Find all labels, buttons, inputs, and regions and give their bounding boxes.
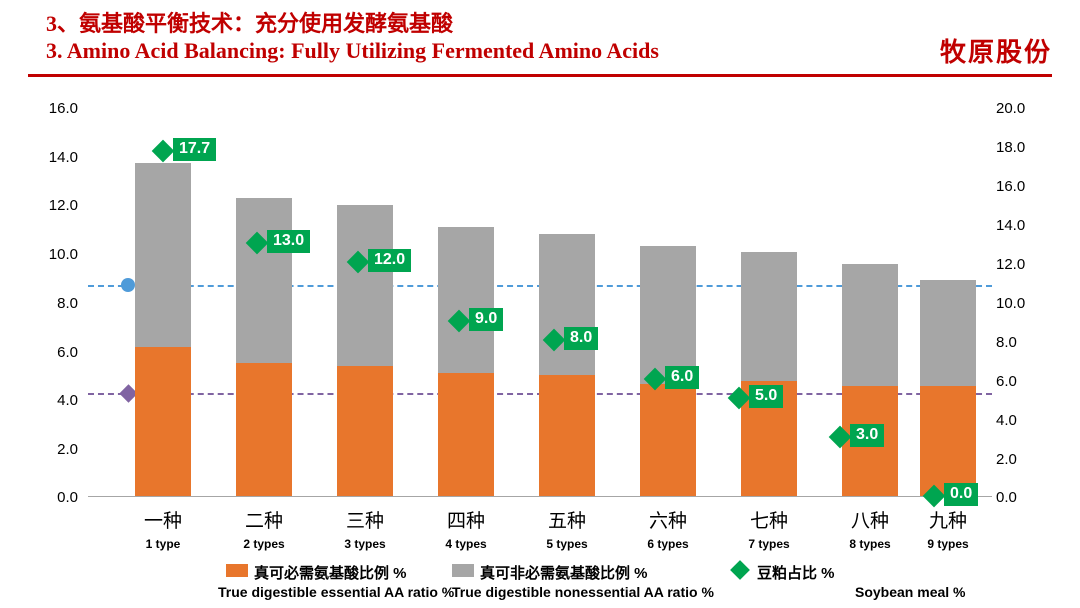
data-label: 5.0: [749, 385, 783, 408]
y-axis-right-tick: 16.0: [996, 178, 1058, 195]
x-axis-category-en: 7 types: [714, 537, 824, 551]
bar-group: [135, 163, 191, 496]
x-axis-category-cn: 一种: [108, 506, 218, 533]
y-axis-right-tick: 4.0: [996, 412, 1058, 429]
bar-nonessential: [236, 198, 292, 363]
x-axis-category: 一种 1 type: [108, 506, 218, 551]
x-axis-category: 四种 4 types: [411, 506, 521, 551]
bar-essential: [236, 363, 292, 496]
bar-essential: [135, 347, 191, 496]
legend-label-essential-en: True digestible essential AA ratio %: [218, 584, 454, 600]
data-label: 13.0: [267, 230, 310, 253]
legend-swatch-essential: [226, 564, 248, 577]
x-axis-category: 六种 6 types: [613, 506, 723, 551]
legend-label-nonessential-cn: 真可非必需氨基酸比例 %: [480, 562, 648, 583]
x-axis-category: 三种 3 types: [310, 506, 420, 551]
y-axis-left-tick: 0.0: [26, 489, 78, 506]
x-axis-category-en: 2 types: [209, 537, 319, 551]
x-axis-category-cn: 二种: [209, 506, 319, 533]
bar-nonessential: [920, 280, 976, 386]
legend-label-nonessential-en: True digestible nonessential AA ratio %: [452, 584, 714, 600]
x-axis-category-en: 9 types: [893, 537, 1003, 551]
x-axis-line: [88, 496, 992, 497]
bar-nonessential: [741, 252, 797, 381]
y-axis-right-tick: 18.0: [996, 139, 1058, 156]
x-axis-category-en: 6 types: [613, 537, 723, 551]
legend-row-cn: 真可必需氨基酸比例 % 真可非必需氨基酸比例 % 豆粕占比 %: [0, 560, 1080, 582]
x-axis-category-cn: 七种: [714, 506, 824, 533]
bar-group: [438, 227, 494, 496]
y-axis-left-tick: 12.0: [26, 197, 78, 214]
legend-label-soybean-cn: 豆粕占比 %: [757, 562, 835, 583]
y-axis-left-tick: 6.0: [26, 344, 78, 361]
data-label: 9.0: [469, 308, 503, 331]
bar-nonessential: [135, 163, 191, 347]
y-axis-right-tick: 8.0: [996, 334, 1058, 351]
header-divider: [28, 74, 1052, 77]
data-label: 3.0: [850, 424, 884, 447]
x-axis-category-en: 3 types: [310, 537, 420, 551]
y-axis-right-tick: 14.0: [996, 217, 1058, 234]
y-axis-left-tick: 16.0: [26, 100, 78, 117]
y-axis-right-tick: 12.0: [996, 256, 1058, 273]
y-axis-right-tick: 0.0: [996, 489, 1058, 506]
y-axis-left-tick: 10.0: [26, 246, 78, 263]
y-axis-right-tick: 20.0: [996, 100, 1058, 117]
x-axis-category-cn: 三种: [310, 506, 420, 533]
legend-label-essential-cn: 真可必需氨基酸比例 %: [254, 562, 407, 583]
x-axis-category: 九种 9 types: [893, 506, 1003, 551]
bar-nonessential: [842, 264, 898, 386]
x-axis-category: 五种 5 types: [512, 506, 622, 551]
reference-line-blue-endpoint: [121, 278, 135, 292]
bar-essential: [539, 375, 595, 496]
data-label: 0.0: [944, 483, 978, 506]
page-title-cn: 3、氨基酸平衡技术：充分使用发酵氨基酸: [46, 6, 453, 38]
legend-swatch-nonessential: [452, 564, 474, 577]
x-axis-category-en: 4 types: [411, 537, 521, 551]
x-axis-category-cn: 九种: [893, 506, 1003, 533]
y-axis-left-tick: 14.0: [26, 149, 78, 166]
bar-group: [741, 252, 797, 496]
data-label: 8.0: [564, 327, 598, 350]
x-axis-category-cn: 五种: [512, 506, 622, 533]
x-axis-category-cn: 四种: [411, 506, 521, 533]
bar-nonessential: [539, 234, 595, 375]
bar-essential: [337, 366, 393, 496]
y-axis-left-tick: 2.0: [26, 441, 78, 458]
y-axis-left-tick: 4.0: [26, 392, 78, 409]
bar-group: [842, 264, 898, 496]
x-axis-category-en: 5 types: [512, 537, 622, 551]
y-axis-right-tick: 10.0: [996, 295, 1058, 312]
y-axis-left-tick: 8.0: [26, 295, 78, 312]
legend-swatch-soybean: [730, 560, 750, 580]
x-axis-category: 七种 7 types: [714, 506, 824, 551]
data-label: 12.0: [368, 249, 411, 272]
bar-nonessential: [438, 227, 494, 373]
bar-essential: [640, 384, 696, 496]
bar-nonessential: [337, 205, 393, 366]
x-axis-category: 二种 2 types: [209, 506, 319, 551]
x-axis-category-cn: 六种: [613, 506, 723, 533]
legend-label-soybean-en: Soybean meal %: [855, 584, 966, 600]
data-label: 6.0: [665, 366, 699, 389]
company-logo-text: 牧原股份: [940, 32, 1052, 69]
bar-group: [920, 280, 976, 496]
bar-group: [539, 234, 595, 496]
x-axis-category-en: 1 type: [108, 537, 218, 551]
page-title-en: 3. Amino Acid Balancing: Fully Utilizing…: [46, 38, 659, 64]
y-axis-right-tick: 6.0: [996, 373, 1058, 390]
y-axis-right-tick: 2.0: [996, 451, 1058, 468]
bar-essential: [438, 373, 494, 496]
bar-essential: [920, 386, 976, 496]
data-label: 17.7: [173, 138, 216, 161]
bar-nonessential: [640, 246, 696, 384]
slide-header: 3、氨基酸平衡技术：充分使用发酵氨基酸 3. Amino Acid Balanc…: [0, 0, 1080, 78]
chart-legend: 真可必需氨基酸比例 % 真可非必需氨基酸比例 % 豆粕占比 % True dig…: [0, 560, 1080, 608]
